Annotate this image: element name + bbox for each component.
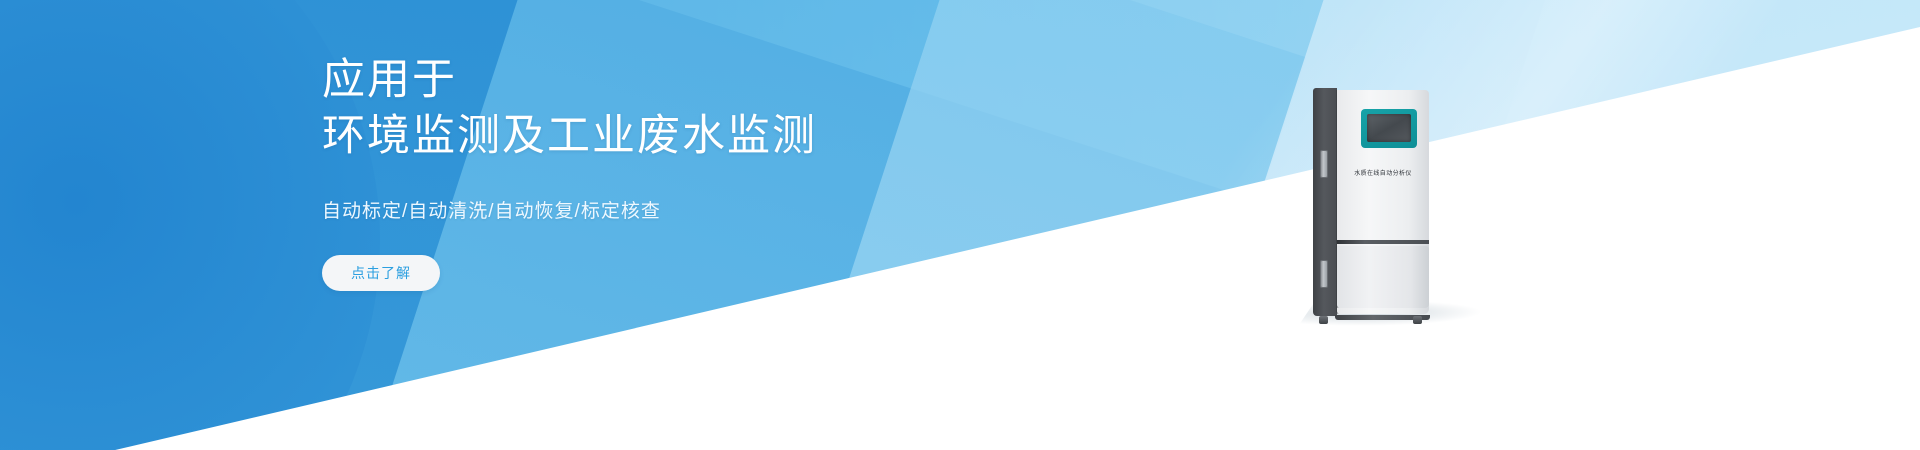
device-lower-door-handle: [1320, 260, 1328, 288]
device-divider: [1337, 240, 1429, 244]
device-screen: [1367, 114, 1411, 142]
device-lower-compartment: [1336, 246, 1429, 308]
device-upper-door-handle: [1320, 150, 1328, 178]
device-caster-right: [1413, 316, 1422, 324]
banner-content: 应用于 环境监测及工业废水监测 自动标定/自动清洗/自动恢复/标定核查 点击了解: [322, 52, 1082, 291]
learn-more-button[interactable]: 点击了解: [322, 255, 440, 291]
headline-line-2: 环境监测及工业废水监测: [322, 108, 1082, 164]
device-caster-left: [1319, 316, 1328, 324]
water-quality-analyzer-image: 水质在线自动分析仪: [1313, 88, 1435, 318]
headline-line-1: 应用于: [322, 56, 457, 104]
page-title: 应用于 环境监测及工业废水监测: [322, 52, 1082, 164]
hero-banner: 应用于 环境监测及工业废水监测 自动标定/自动清洗/自动恢复/标定核查 点击了解…: [0, 0, 1920, 450]
device-label: 水质在线自动分析仪: [1341, 168, 1425, 177]
banner-subtitle: 自动标定/自动清洗/自动恢复/标定核查: [322, 196, 1082, 223]
